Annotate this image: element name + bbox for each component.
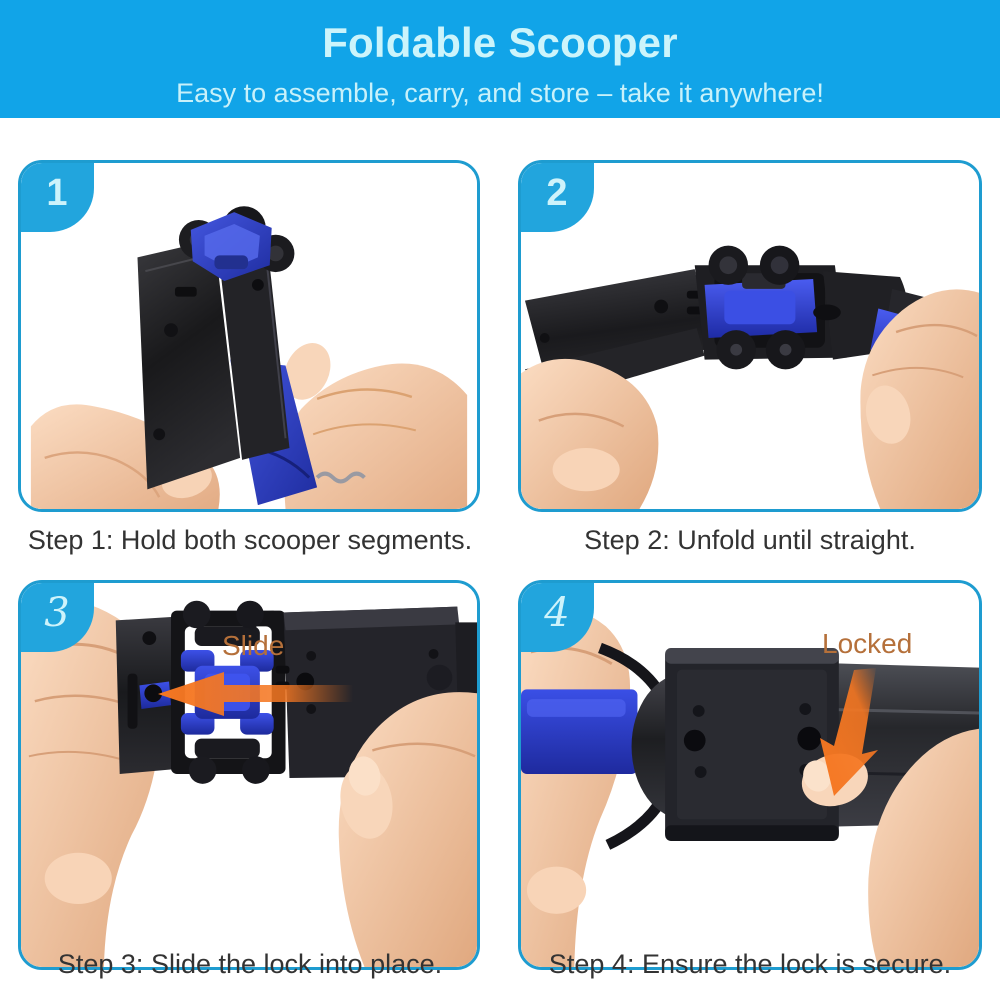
page-subtitle: Easy to assemble, carry, and store – tak… — [0, 78, 1000, 108]
step-number: 3 — [20, 582, 94, 644]
step-badge-2: 2 — [520, 162, 594, 232]
step-panel-4: 4 — [518, 580, 982, 970]
product-instruction-infographic: Foldable Scooper Easy to assemble, carry… — [0, 0, 1000, 1000]
step-caption-3: Step 3: Slide the lock into place. — [0, 948, 500, 980]
step-panel-2: 2 — [518, 160, 982, 512]
step-number: 2 — [520, 162, 594, 224]
step-caption-1: Step 1: Hold both scooper segments. — [0, 524, 500, 556]
step-badge-1: 1 — [20, 162, 94, 232]
step-number: 1 — [20, 162, 94, 224]
arrow-left-icon — [158, 672, 353, 716]
step-caption-4: Step 4: Ensure the lock is secure. — [500, 948, 1000, 980]
step-badge-4: 4 — [520, 582, 594, 652]
arrow-down-left-icon — [820, 668, 880, 796]
step-number: 4 — [520, 582, 594, 644]
page-title: Foldable Scooper — [0, 20, 1000, 66]
slide-annotation-label: Slide — [222, 630, 284, 662]
step-panel-1: 1 — [18, 160, 480, 512]
step-caption-2: Step 2: Unfold until straight. — [500, 524, 1000, 556]
locked-annotation-label: Locked — [822, 628, 912, 660]
header-banner: Foldable Scooper Easy to assemble, carry… — [0, 0, 1000, 118]
step-badge-3: 3 — [20, 582, 94, 652]
